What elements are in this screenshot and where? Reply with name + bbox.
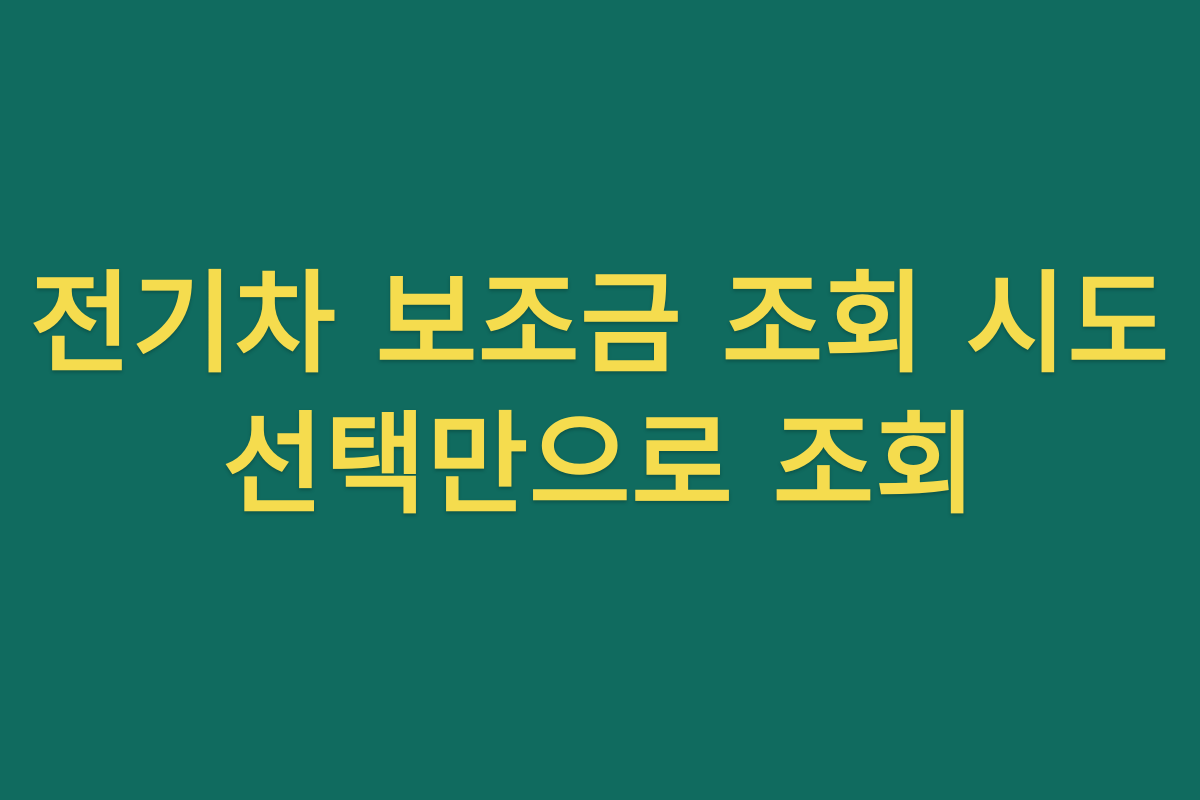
headline-line-2: 선택만으로 조회 [0,395,1200,536]
poster-canvas: 전기차 보조금 조회 시도 선택만으로 조회 [0,0,1200,800]
headline-line-1: 전기차 보조금 조회 시도 [0,254,1200,395]
headline-block: 전기차 보조금 조회 시도 선택만으로 조회 [0,254,1200,536]
